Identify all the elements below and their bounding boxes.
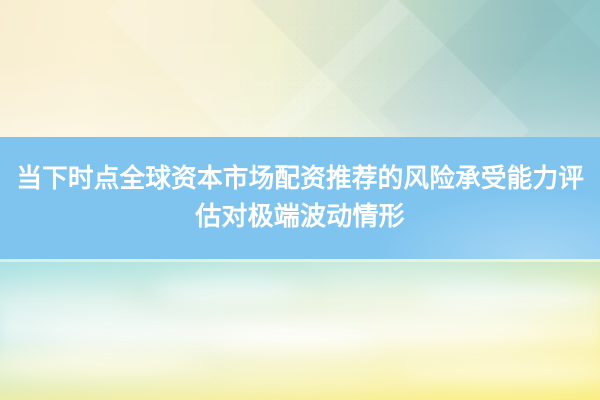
banner-image: 当下时点全球资本市场配资推荐的风险承受能力评 估对极端波动情形 xyxy=(0,0,600,400)
top-decorative-band xyxy=(0,0,600,137)
bottom-sky-band xyxy=(0,259,600,400)
band-seam-divider xyxy=(0,259,600,262)
top-band-light-veil xyxy=(0,0,600,137)
banner-title-line-1: 当下时点全球资本市场配资推荐的风险承受能力评 xyxy=(16,162,584,196)
sky-vertical-tint xyxy=(0,259,600,400)
banner-title-line-2: 估对极端波动情形 xyxy=(195,200,405,234)
banner-title: 当下时点全球资本市场配资推荐的风险承受能力评 估对极端波动情形 xyxy=(0,137,600,259)
title-band: 当下时点全球资本市场配资推荐的风险承受能力评 估对极端波动情形 xyxy=(0,137,600,259)
